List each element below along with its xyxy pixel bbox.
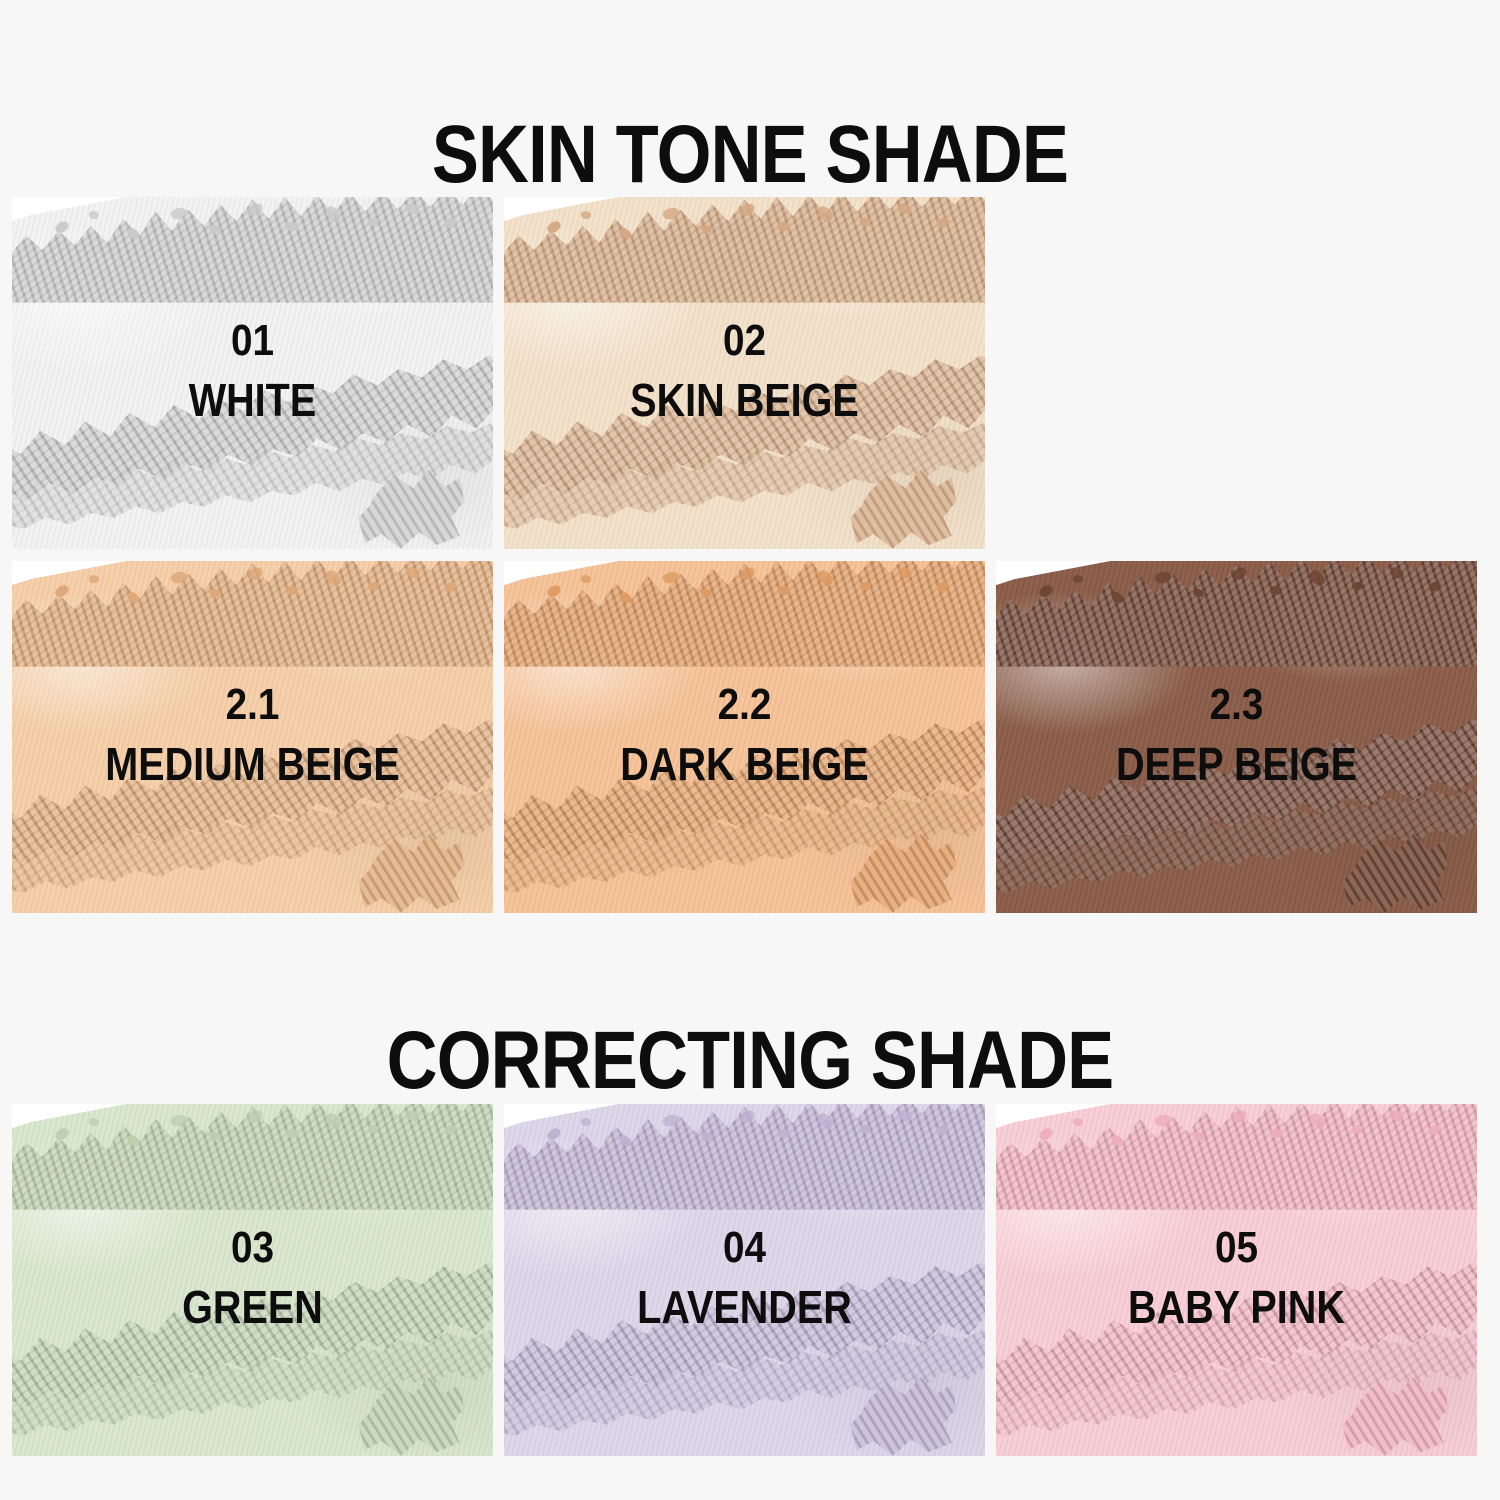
- section-title-skin-tone: SKIN TONE SHADE: [105, 112, 1395, 198]
- swatch-tile-04-lavender[interactable]: 04 LAVENDER: [504, 1104, 985, 1456]
- shade-chart-page: SKIN TONE SHADE 01 WHITE: [0, 0, 1500, 1500]
- swatch-tile-21-medium-beige[interactable]: 2.1 MEDIUM BEIGE: [12, 561, 493, 913]
- swatch-row: 03 GREEN 04 LAVENDER: [12, 1104, 1488, 1456]
- swatch-row: 01 WHITE 02 SKIN BEIGE: [12, 197, 1488, 549]
- swatch-cell[interactable]: 04 LAVENDER: [504, 1104, 985, 1456]
- swatch-cell[interactable]: 02 SKIN BEIGE: [504, 197, 985, 549]
- swatch-tile-01-white[interactable]: 01 WHITE: [12, 197, 493, 549]
- swatch-tile-03-green[interactable]: 03 GREEN: [12, 1104, 493, 1456]
- swatch-cell[interactable]: 2.3 DEEP BEIGE: [996, 561, 1477, 913]
- swatch-grid-skin-tone: 01 WHITE 02 SKIN BEIGE: [12, 197, 1488, 925]
- swatch-cell[interactable]: 03 GREEN: [12, 1104, 493, 1456]
- swatch-tile-22-dark-beige[interactable]: 2.2 DARK BEIGE: [504, 561, 985, 913]
- swatch-row: 2.1 MEDIUM BEIGE 2.2 DARK BEIGE: [12, 561, 1488, 913]
- swatch-cell[interactable]: 05 BABY PINK: [996, 1104, 1477, 1456]
- swatch-tile-02-skin-beige[interactable]: 02 SKIN BEIGE: [504, 197, 985, 549]
- swatch-grid-correcting: 03 GREEN 04 LAVENDER: [12, 1104, 1488, 1468]
- swatch-cell[interactable]: 01 WHITE: [12, 197, 493, 549]
- section-title-correcting: CORRECTING SHADE: [105, 1018, 1395, 1104]
- swatch-cell[interactable]: 2.2 DARK BEIGE: [504, 561, 985, 913]
- swatch-tile-05-baby-pink[interactable]: 05 BABY PINK: [996, 1104, 1477, 1456]
- swatch-cell-empty: [996, 197, 1477, 549]
- swatch-cell[interactable]: 2.1 MEDIUM BEIGE: [12, 561, 493, 913]
- swatch-tile-23-deep-beige[interactable]: 2.3 DEEP BEIGE: [996, 561, 1477, 913]
